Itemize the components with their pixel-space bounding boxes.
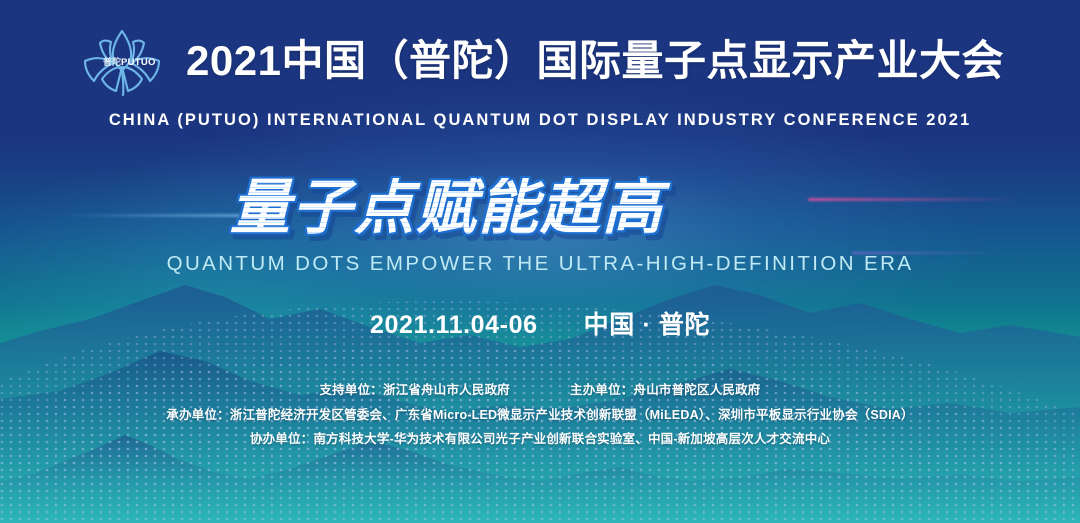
slogan-cn-head: 量子点赋能超高 [230, 174, 664, 241]
logo-text-en: PUTUO [121, 57, 156, 68]
page-title: 2021中国（普陀）国际量子点显示产业大会 [186, 40, 1004, 82]
slogan-cn: 量子点赋能超高清时代 [230, 178, 850, 238]
slogan-en: QUANTUM DOTS EMPOWER THE ULTRA-HIGH-DEFI… [167, 254, 914, 275]
slogan-cn-tail: 清时代 [664, 174, 850, 241]
lotus-flower-icon: 普陀 PUTUO [76, 23, 168, 99]
organizer-row-1: 支持单位：浙江省舟山市人民政府 主办单位：舟山市普陀区人民政府 [319, 384, 760, 397]
slogan-block: 量子点赋能超高清时代 QUANTUM DOTS EMPOWER THE ULTR… [0, 178, 1080, 275]
event-date: 2021.11.04-06 [370, 313, 538, 338]
organizer-supporter: 支持单位：浙江省舟山市人民政府 [319, 384, 510, 397]
page-subtitle: CHINA (PUTUO) INTERNATIONAL QUANTUM DOT … [109, 112, 971, 129]
organizer-undertaker: 承办单位：浙江普陀经济开发区管委会、广东省Micro-LED微显示产业技术创新联… [166, 409, 913, 422]
organizer-host: 主办单位：舟山市普陀区人民政府 [570, 384, 761, 397]
organizer-block: 支持单位：浙江省舟山市人民政府 主办单位：舟山市普陀区人民政府 承办单位：浙江普… [0, 384, 1080, 446]
event-datebar: 2021.11.04-06 中国 · 普陀 [0, 313, 1080, 338]
organizer-coorganizer: 协办单位：南方科技大学-华为技术有限公司光子产业创新联合实验室、中国-新加坡高层… [250, 433, 830, 446]
title-row: 普陀 PUTUO 2021中国（普陀）国际量子点显示产业大会 [76, 23, 1004, 99]
conference-banner: 普陀 PUTUO 2021中国（普陀）国际量子点显示产业大会 CHINA (PU… [0, 0, 1080, 523]
logo-text-cn: 普陀 [103, 56, 121, 67]
banner-header: 普陀 PUTUO 2021中国（普陀）国际量子点显示产业大会 CHINA (PU… [0, 0, 1080, 152]
event-location: 中国 · 普陀 [584, 313, 710, 338]
